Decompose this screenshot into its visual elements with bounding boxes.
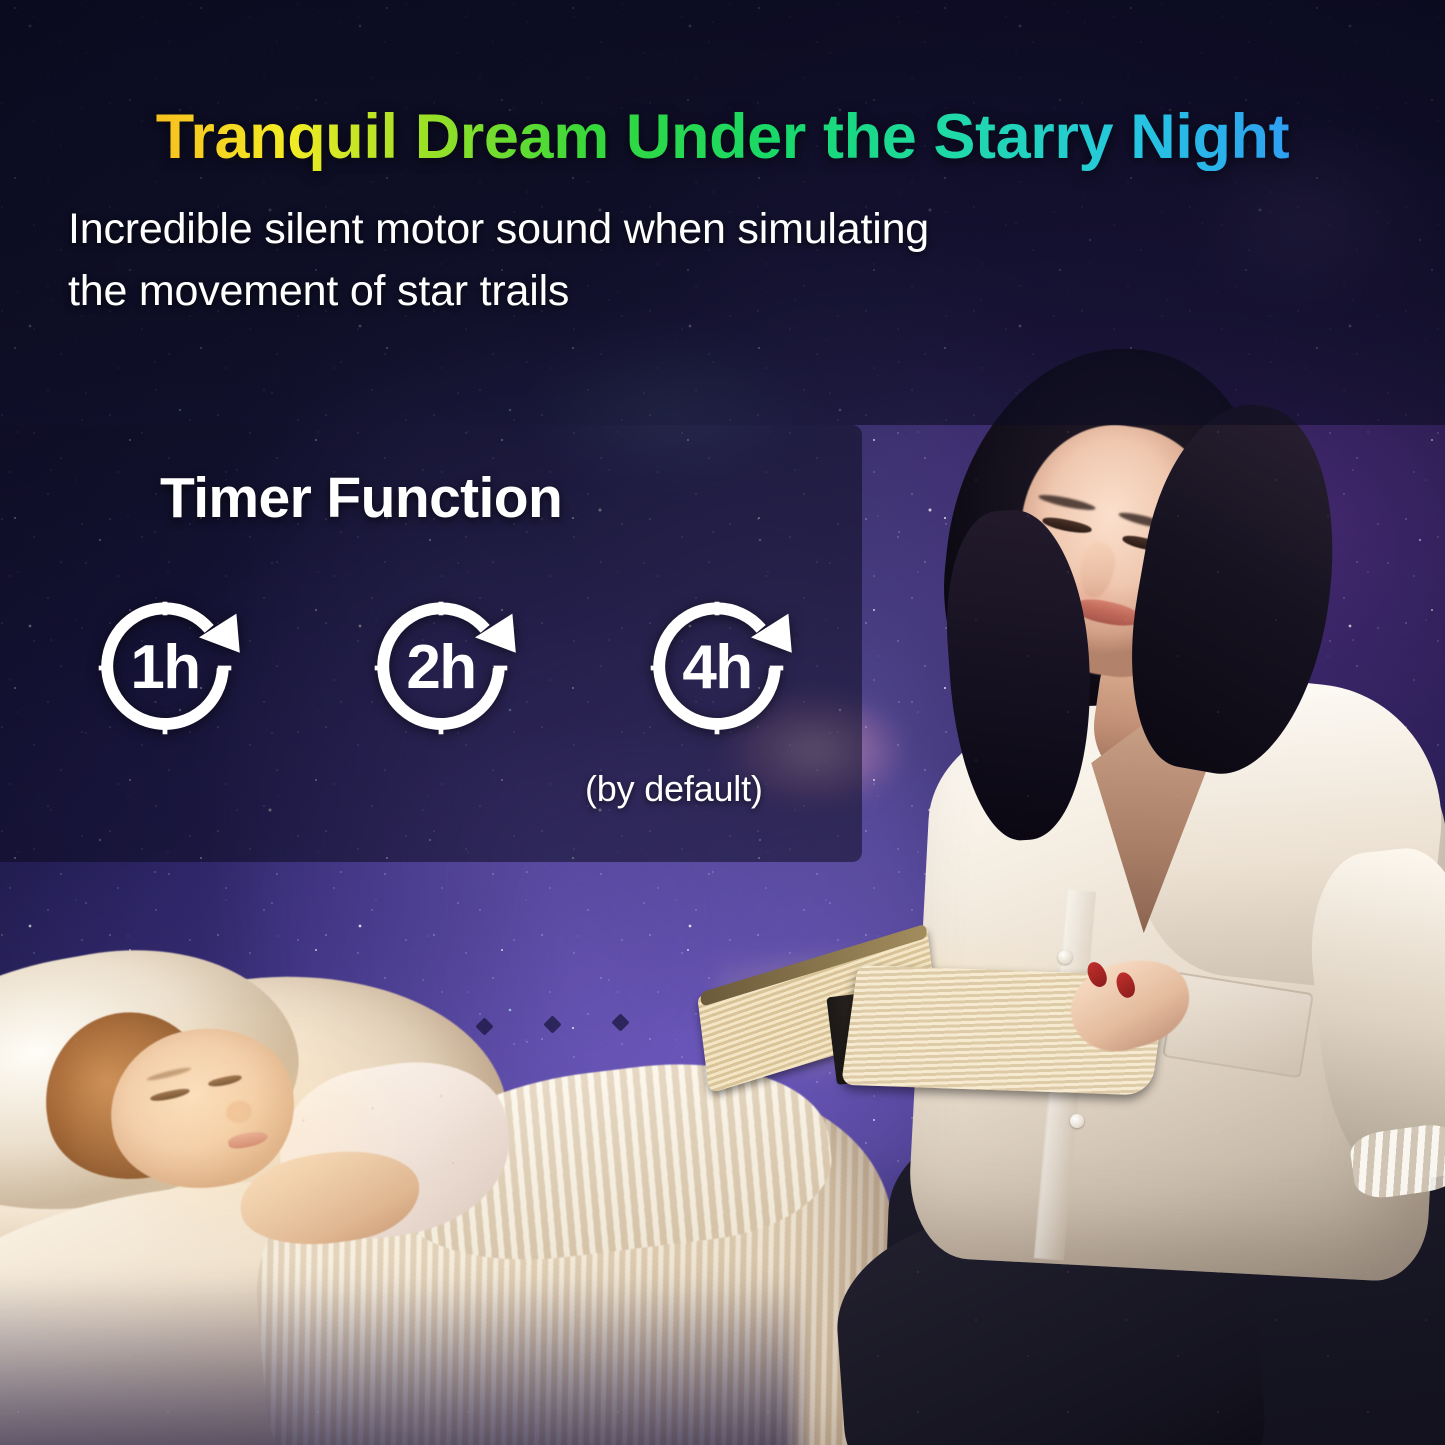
woman-reading xyxy=(900,330,1445,1340)
timer-option-4h[interactable]: 4h xyxy=(632,583,802,753)
subtitle-line-1: Incredible silent motor sound when simul… xyxy=(68,198,1228,260)
sleeping-child xyxy=(30,1005,460,1255)
bed-shadow xyxy=(0,1275,800,1445)
timer-option-label: 1h xyxy=(80,583,250,753)
timer-option-2h[interactable]: 2h xyxy=(356,583,526,753)
timer-option-label: 2h xyxy=(356,583,526,753)
timer-default-note: (by default) xyxy=(585,768,763,810)
subtitle-line-2: the movement of star trails xyxy=(68,260,1228,322)
subtitle: Incredible silent motor sound when simul… xyxy=(68,198,1228,323)
open-book xyxy=(694,918,1175,1172)
warm-light-glow xyxy=(70,1005,430,1255)
timer-option-label: 4h xyxy=(632,583,802,753)
page-title: Tranquil Dream Under the Starry Night xyxy=(0,104,1445,171)
timer-option-1h[interactable]: 1h xyxy=(80,583,250,753)
timer-function-heading: Timer Function xyxy=(160,465,562,531)
timer-options-row: 1h 2h xyxy=(80,583,802,753)
product-feature-poster: Tranquil Dream Under the Starry Night In… xyxy=(0,0,1445,1445)
